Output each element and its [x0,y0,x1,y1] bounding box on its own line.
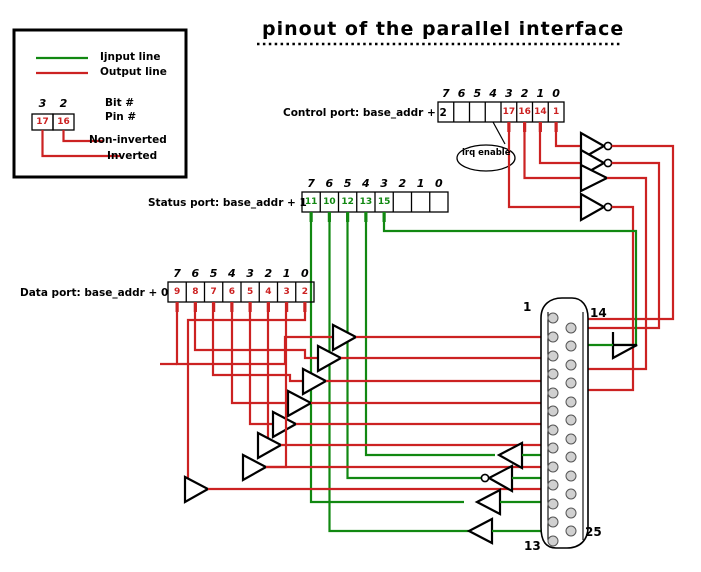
control-pin-16: 16 [517,107,533,117]
data-pin-9: 9 [168,287,186,297]
control-bit-6: 6 [454,87,470,100]
connector-pin-23 [566,489,576,499]
data-pin-8: 8 [186,287,204,297]
irq-enable-label: irq enable [462,149,510,158]
status-pin-11: 11 [302,197,320,207]
status-bit-3: 3 [375,177,393,190]
control-bit-2: 2 [517,87,533,100]
pinout-schematic: .w-red{stroke:#cc2222;stroke-width:2.2;f… [0,0,701,572]
connector-pin-7 [548,425,558,435]
legend-noninverted-label: Non-inverted [89,134,167,146]
data-bit-4: 4 [223,267,241,280]
connector-pin-16 [566,360,576,370]
gate-buffer-status-pin13 [499,443,522,468]
gate-buffer-data-pin7 [303,369,326,394]
gate-buffer-data-pin4 [258,433,281,458]
status-bit-7: 7 [302,177,320,190]
control-port-name: Control port: base_addr + 2 [283,107,447,119]
data-pin-4: 4 [259,287,277,297]
status-pin-12: 12 [339,197,357,207]
connector-pin-1 [548,313,558,323]
connector-pin-14 [566,323,576,333]
irq-leader-line [493,122,505,144]
connector-pin-12 [548,517,558,527]
gate-buffer-data-pin6 [288,391,311,416]
data-bit-1: 1 [278,267,296,280]
gate-buffer-data-pin3 [243,455,266,480]
connector-pin-15 [566,341,576,351]
control-pin-17: 17 [501,107,517,117]
status-bit-5: 5 [339,177,357,190]
data-bit-0: 0 [296,267,314,280]
wire-ctrl-bit2-pin16 [525,122,582,178]
diagram-canvas: .w-red{stroke:#cc2222;stroke-width:2.2;f… [0,0,701,572]
connector-label-13: 13 [524,539,541,553]
connector-pin-22 [566,471,576,481]
status-port-name: Status port: base_addr + 1 [148,197,307,209]
connector-pin-11 [548,499,558,509]
legend-pin-label: Pin # [105,111,136,123]
connector-label-1: 1 [523,300,531,314]
connector-pin-5 [548,388,558,398]
wire-data-bit5-pin7 [213,302,303,381]
legend-pinnum-16: 16 [53,117,74,127]
connector-label-25: 25 [585,525,602,539]
data-pin-6: 6 [223,287,241,297]
wire-status-bit3-pin15 [384,212,636,345]
gate-buffer-status-pin10 [469,519,492,543]
legend-inverted-label: Inverted [107,150,157,162]
control-bit-5: 5 [470,87,486,100]
wire-status-bit6-pin10 [330,212,471,531]
legend-bitnum-2: 2 [53,97,74,110]
data-bit-6: 6 [186,267,204,280]
connector-pin-10 [548,480,558,490]
status-pin-13: 13 [357,197,375,207]
connector-pin-6 [548,406,558,416]
gate-inverter-status-pin12 [481,466,512,491]
connector-pin-19 [566,415,576,425]
gate-buffer-status-pin11 [477,490,500,514]
data-port-name: Data port: base_addr + 0 [20,287,168,299]
connector-label-14: 14 [590,306,607,320]
connector-pin-13 [548,536,558,546]
status-pin-15: 15 [375,197,393,207]
data-bit-2: 2 [259,267,277,280]
legend-input-label: Ijnput line [100,51,160,63]
gate-inverter-ctrl-pin17 [581,194,612,220]
legend-pinnum-17: 17 [32,117,53,127]
gate-buffer-data-pin2 [185,477,208,502]
wire-status-bit5-pin12 [348,212,484,478]
connector-pin-24 [566,508,576,518]
connector-pin-2 [548,332,558,342]
connector-pin-18 [566,397,576,407]
control-bit-0: 0 [548,87,564,100]
connector-pin-4 [548,369,558,379]
data-pin-3: 3 [278,287,296,297]
control-bit-7: 7 [438,87,454,100]
status-bit-0: 0 [430,177,448,190]
data-pin-5: 5 [241,287,259,297]
control-pin-1: 1 [548,107,564,117]
wire-ctrl-bit3-pin17 [509,122,581,207]
status-bit-4: 4 [357,177,375,190]
data-pin-2: 2 [296,287,314,297]
legend-bitnum-3: 3 [32,97,53,110]
connector-pin-21 [566,452,576,462]
connector-pin-25 [566,526,576,536]
wire-ctrl-bit0-pin1 [556,122,581,146]
connector-pin-17 [566,378,576,388]
data-bit-3: 3 [241,267,259,280]
wire-data-bit4-pin6 [232,302,288,403]
status-bit-1: 1 [412,177,430,190]
control-bit-3: 3 [501,87,517,100]
data-pin-7: 7 [205,287,223,297]
connector-pin-3 [548,351,558,361]
page-title: pinout of the parallel interface [262,18,624,40]
connector-pin-9 [548,462,558,472]
data-bit-5: 5 [205,267,223,280]
gate-buffer-data-pin5 [273,412,296,437]
legend-output-label: Output line [100,66,167,78]
wire-data-bit7-pin9 [177,302,333,364]
legend-bit-label: Bit # [105,97,134,109]
wire-status-bit4-pin13 [366,212,495,455]
db25-connector [541,298,588,548]
data-bit-7: 7 [168,267,186,280]
status-bit-6: 6 [320,177,338,190]
wire-ctrl-bit1-pin14 [540,122,581,163]
connector-pin-8 [548,443,558,453]
connector-pin-20 [566,434,576,444]
status-pin-10: 10 [320,197,338,207]
status-bit-2: 2 [393,177,411,190]
control-bit-4: 4 [485,87,501,100]
control-pin-14: 14 [533,107,549,117]
gate-buffer-data-pin9 [333,325,356,350]
control-bit-1: 1 [533,87,549,100]
